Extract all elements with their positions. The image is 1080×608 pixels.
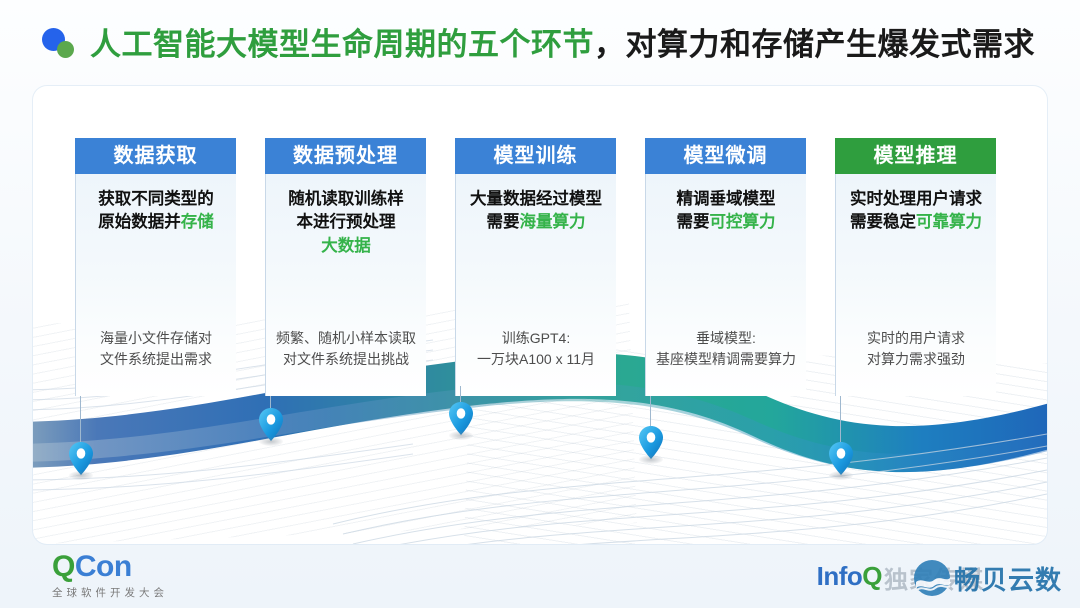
stage-card-4-sub-line2: 基座模型精调需要算力 [634,349,818,370]
pin-shadow-1 [69,471,93,480]
watermark-logo: 畅贝云数 [912,558,1062,598]
stage-card-5-main-line1: 实时处理用户请求 [832,188,1000,211]
green-dot-icon [57,41,74,58]
stage-card-3-sub-line1: 训练GPT4: [446,328,626,349]
stage-card-3-body: 大量数据经过模型 需要海量算力 训练GPT4: 一万块A100 x 11月 [455,174,616,396]
stage-card-4-main: 精调垂域模型 需要可控算力 [646,174,806,235]
stage-card-2-main: 随机读取训练样 本进行预处理 大数据 [266,174,426,258]
connector-line-5 [840,396,841,442]
stage-card-3[interactable]: 模型训练 大量数据经过模型 需要海量算力 训练GPT4: 一万块A100 x 1… [455,138,616,396]
stage-card-2-main-line1: 随机读取训练样 [270,188,422,211]
stage-card-5-sub-line1: 实时的用户请求 [836,328,996,349]
watermark-text: 畅贝云数 [954,560,1062,597]
stage-card-3-sub: 训练GPT4: 一万块A100 x 11月 [446,328,626,370]
stage-card-5-sub: 实时的用户请求 对算力需求强劲 [836,328,996,370]
content-panel: 数据获取 获取不同类型的 原始数据并存储 海量小文件存储对 文件系统提出需求 数… [33,86,1047,544]
pin-shadow-4 [639,455,663,464]
stage-card-1-sub-line2: 文件系统提出需求 [76,349,236,370]
stage-card-5-main-line2: 需要稳定 [850,213,916,231]
stage-card-3-main-line2: 需要 [487,213,520,231]
stage-card-4-highlight: 可控算力 [710,213,776,231]
qcon-logo: QCon 全球软件开发大会 [52,552,168,600]
stage-card-4-body: 精调垂域模型 需要可控算力 垂域模型: 基座模型精调需要算力 [645,174,806,396]
slide-root: 人工智能大模型生命周期的五个环节，对算力和存储产生爆发式需求 [0,0,1080,608]
title-black-part: ，对算力和存储产生爆发式需求 [594,27,1035,62]
stage-card-5[interactable]: 模型推理 实时处理用户请求 需要稳定可靠算力 实时的用户请求 对算力需求强劲 [835,138,996,396]
pin-shadow-5 [829,471,853,480]
stage-card-1-main: 获取不同类型的 原始数据并存储 [76,174,236,235]
stage-card-3-main-line1: 大量数据经过模型 [452,188,620,211]
stage-card-5-body: 实时处理用户请求 需要稳定可靠算力 实时的用户请求 对算力需求强劲 [835,174,996,396]
map-pin-icon-5[interactable] [828,441,854,477]
stage-card-4-main-line1: 精调垂域模型 [650,188,802,211]
stage-card-1-main-line1: 获取不同类型的 [80,188,232,211]
infoq-logo-info: Info [817,561,863,591]
stage-card-2-sub-line2: 对文件系统提出挑战 [252,349,440,370]
stage-card-3-header: 模型训练 [455,138,616,174]
stage-card-2-main-line2: 本进行预处理 [270,211,422,234]
stage-card-2-header: 数据预处理 [265,138,426,174]
stage-card-3-highlight: 海量算力 [520,213,586,231]
connector-line-4 [650,396,651,426]
stage-card-1-sub-line1: 海量小文件存储对 [76,328,236,349]
stage-card-3-main: 大量数据经过模型 需要海量算力 [456,174,616,235]
map-pin-icon-2[interactable] [258,407,284,443]
stage-card-5-sub-line2: 对算力需求强劲 [836,349,996,370]
stage-card-4-main-line2: 需要 [677,213,710,231]
stage-card-1-main-line2: 原始数据并 [98,213,181,231]
infoq-logo: InfoQ [817,563,882,589]
stage-card-2[interactable]: 数据预处理 随机读取训练样 本进行预处理 大数据 频繁、随机小样本读取 对文件系… [265,138,426,396]
stage-card-4[interactable]: 模型微调 精调垂域模型 需要可控算力 垂域模型: 基座模型精调需要算力 [645,138,806,396]
stage-card-1[interactable]: 数据获取 获取不同类型的 原始数据并存储 海量小文件存储对 文件系统提出需求 [75,138,236,396]
map-pin-icon-4[interactable] [638,425,664,461]
two-dots-icon [40,26,76,62]
qcon-logo-subtitle: 全球软件开发大会 [52,585,168,600]
infoq-logo-q: Q [862,561,882,591]
stage-card-1-highlight: 存储 [181,213,214,231]
stage-card-5-header: 模型推理 [835,138,996,174]
connector-line-3 [460,386,461,402]
pin-shadow-2 [259,437,283,446]
stage-card-2-sub-line1: 频繁、随机小样本读取 [252,328,440,349]
stage-card-2-highlight: 大数据 [270,235,422,258]
stage-card-1-body: 获取不同类型的 原始数据并存储 海量小文件存储对 文件系统提出需求 [75,174,236,396]
stage-card-4-sub-line1: 垂域模型: [634,328,818,349]
stage-card-1-sub: 海量小文件存储对 文件系统提出需求 [76,328,236,370]
stage-card-5-highlight: 可靠算力 [916,213,982,231]
map-pin-icon-3[interactable] [448,401,474,437]
stage-card-4-sub: 垂域模型: 基座模型精调需要算力 [634,328,818,370]
pin-shadow-3 [449,431,473,440]
stage-card-4-header: 模型微调 [645,138,806,174]
title-green-part: 人工智能大模型生命周期的五个环节 [90,27,594,62]
qcon-logo-q: Q [52,550,75,583]
map-pin-icon-1[interactable] [68,441,94,477]
page-title: 人工智能大模型生命周期的五个环节，对算力和存储产生爆发式需求 [40,16,1035,72]
stage-card-5-main: 实时处理用户请求 需要稳定可靠算力 [836,174,996,235]
stage-card-1-header: 数据获取 [75,138,236,174]
stage-card-3-sub-line2: 一万块A100 x 11月 [446,349,626,370]
stage-card-2-sub: 频繁、随机小样本读取 对文件系统提出挑战 [252,328,440,370]
wave-circle-icon [912,558,952,598]
qcon-logo-con: Con [75,550,132,583]
stage-card-2-body: 随机读取训练样 本进行预处理 大数据 频繁、随机小样本读取 对文件系统提出挑战 [265,174,426,396]
connector-line-1 [80,396,81,442]
